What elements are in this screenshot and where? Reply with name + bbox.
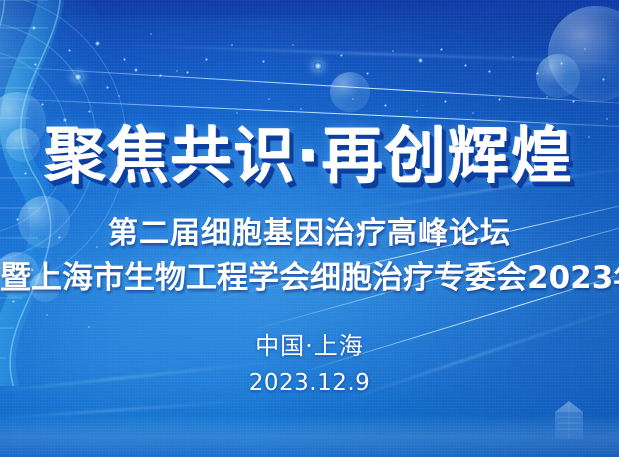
page-title: 聚焦共识·再创辉煌 [0,126,619,187]
banner-text-block: 聚焦共识·再创辉煌 第二届细胞基因治疗高峰论坛 暨上海市生物工程学会细胞治疗专委… [0,0,619,457]
subtitle-line-2: 暨上海市生物工程学会细胞治疗专委会2023年会 [0,263,619,294]
subtitle-line-1: 第二届细胞基因治疗高峰论坛 [0,219,619,249]
event-date-text: 2023.12.9 [0,372,619,395]
event-location-text: 中国·上海 [0,334,619,358]
conference-banner: 聚焦共识·再创辉煌 第二届细胞基因治疗高峰论坛 暨上海市生物工程学会细胞治疗专委… [0,0,619,457]
